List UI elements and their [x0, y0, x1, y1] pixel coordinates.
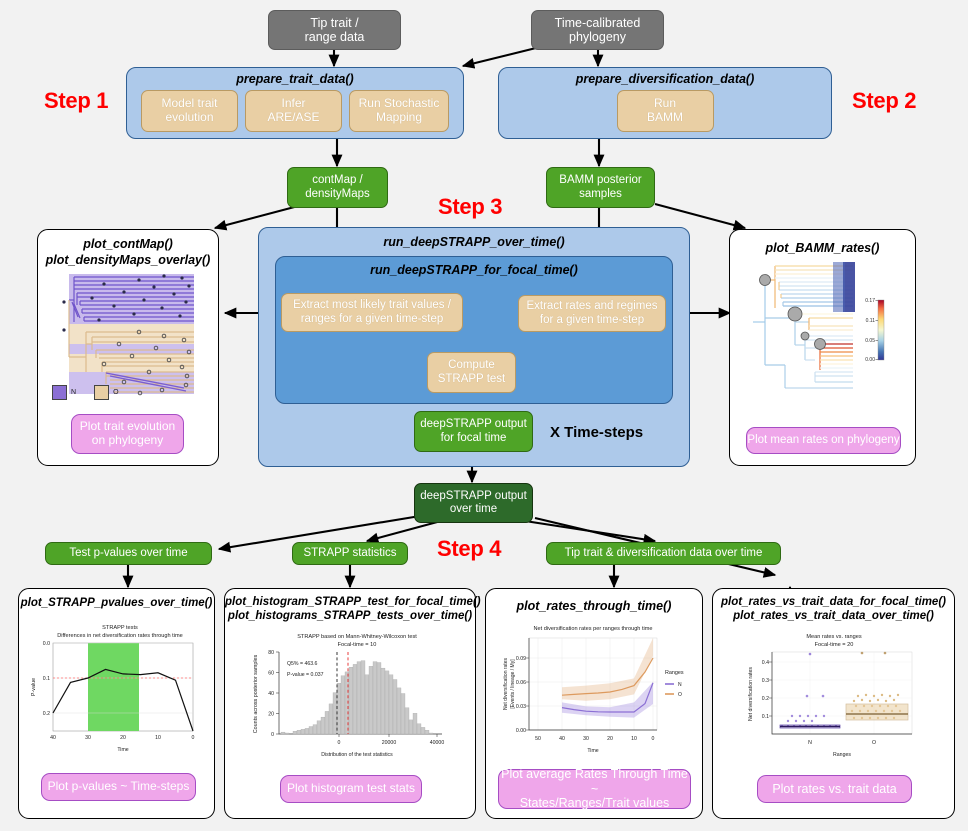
run-stochastic-mapping-node[interactable]: Run Stochastic Mapping: [349, 90, 449, 132]
node-line1: Model trait: [161, 97, 217, 111]
svg-text:Time: Time: [587, 748, 598, 754]
phylogeny-line2: phylogeny: [555, 30, 641, 44]
svg-text:0: 0: [652, 736, 655, 742]
tip-trait-line1: Tip trait /: [305, 16, 365, 30]
rates-through-time-chart: Net diversification rates per ranges thr…: [493, 616, 698, 761]
svg-text:0.11: 0.11: [866, 318, 876, 324]
timesteps-label: X Time-steps: [550, 424, 643, 441]
panel-rates-vs-trait[interactable]: plot_rates_vs_trait_data_for_focal_time(…: [712, 588, 955, 819]
step2-label: Step 2: [852, 88, 916, 114]
model-trait-evolution-node[interactable]: Model trait evolution: [141, 90, 238, 132]
svg-text:Ranges: Ranges: [665, 670, 684, 676]
branch-label: Test p-values over time: [69, 547, 187, 560]
svg-text:Net diversification rates: Net diversification rates: [748, 667, 754, 721]
output-focal-line1: deepSTRAPP output: [420, 418, 527, 431]
button-line1: Plot trait evolution: [80, 420, 175, 434]
svg-text:P-value: P-value: [31, 678, 37, 696]
svg-text:Ranges: Ranges: [833, 752, 851, 758]
plot-mean-rates-button[interactable]: Plot mean rates on phylogeny: [746, 427, 901, 454]
rates-vs-trait-chart: Mean rates vs. ranges Focal-time = 20: [722, 626, 947, 761]
output-over-time-line1: deepSTRAPP output: [420, 490, 527, 503]
branch-tip-trait-data[interactable]: Tip trait & diversification data over ti…: [546, 542, 781, 565]
node-line1: Run: [647, 97, 683, 111]
panel3-title: plot_rates_through_time(): [486, 599, 702, 613]
extract-trait-values-node[interactable]: Extract most likely trait values / range…: [281, 293, 463, 332]
tip-trait-node[interactable]: Tip trait / range data: [268, 10, 401, 50]
svg-text:0.09: 0.09: [516, 656, 526, 662]
panel4-title-line1: plot_rates_vs_trait_data_for_focal_time(…: [713, 596, 954, 608]
step1-label: Step 1: [44, 88, 108, 114]
svg-text:0.1: 0.1: [43, 676, 50, 682]
svg-text:Distribution of the test stati: Distribution of the test statistics: [321, 752, 393, 758]
svg-text:0.03: 0.03: [516, 704, 526, 710]
contmap-panel[interactable]: plot_contMap() plot_densityMaps_overlay(…: [37, 229, 219, 466]
svg-text:0.0: 0.0: [43, 641, 50, 647]
svg-text:40: 40: [50, 735, 56, 741]
step4-label: Step 4: [437, 536, 501, 562]
branch-label: STRAPP statistics: [303, 547, 396, 560]
svg-text:0.3: 0.3: [762, 678, 769, 684]
svg-text:[Events / lineage / My]: [Events / lineage / My]: [510, 659, 516, 709]
prepare-diversification-data-box[interactable]: prepare_diversification_data() Run BAMM: [498, 67, 832, 139]
branch-label: Tip trait & diversification data over ti…: [565, 547, 763, 560]
bamm-line2: samples: [559, 188, 641, 201]
plot-histogram-button[interactable]: Plot histogram test stats: [280, 775, 422, 803]
svg-text:30: 30: [583, 736, 589, 742]
node-line2: BAMM: [647, 111, 683, 125]
run-deepstrapp-for-focal-time-title: run_deepSTRAPP_for_focal_time(): [276, 263, 672, 277]
panel1-title: plot_STRAPP_pvalues_over_time(): [19, 597, 214, 609]
svg-text:0.2: 0.2: [762, 696, 769, 702]
output-focal-line2: for focal time: [420, 432, 527, 445]
compute-line2: STRAPP test: [438, 373, 506, 386]
bamm-rates-tree-plot: 0.17 0.11 0.05 0.00: [735, 260, 910, 410]
panel-strapp-pvalues[interactable]: plot_STRAPP_pvalues_over_time() STRAPP t…: [18, 588, 215, 819]
svg-text:10: 10: [631, 736, 637, 742]
bamm-line1: BAMM posterior: [559, 174, 641, 187]
svg-text:0.05: 0.05: [865, 338, 875, 344]
plot-trait-evolution-button[interactable]: Plot trait evolution on phylogeny: [71, 414, 184, 454]
output-over-time-line2: over time: [420, 503, 527, 516]
phylogeny-line1: Time-calibrated: [555, 16, 641, 30]
panel2-title-line2: plot_histograms_STRAPP_tests_over_time(): [225, 610, 475, 622]
plot-pvalues-button[interactable]: Plot p-values ~ Time-steps: [41, 773, 196, 801]
svg-text:0: 0: [192, 735, 195, 741]
extract-rates-regimes-node[interactable]: Extract rates and regimes for a given ti…: [518, 295, 666, 332]
contmap-densitymaps-node[interactable]: contMap / densityMaps: [287, 167, 388, 208]
node-line2: Mapping: [359, 111, 440, 125]
svg-text:Mean rates vs. ranges: Mean rates vs. ranges: [806, 634, 862, 640]
button-line2: States/Ranges/Trait values: [499, 796, 690, 810]
plot-rates-vs-trait-button[interactable]: Plot rates vs. trait data: [757, 775, 912, 803]
step3-label: Step 3: [438, 194, 502, 220]
svg-text:STRAPP tests: STRAPP tests: [102, 625, 138, 631]
svg-text:Counts across posterior sample: Counts across posterior samples: [253, 654, 259, 733]
bamm-rates-panel[interactable]: plot_BAMM_rates(): [729, 229, 916, 466]
svg-text:20: 20: [120, 735, 126, 741]
svg-text:O: O: [872, 740, 876, 746]
svg-text:0: 0: [338, 740, 341, 746]
branch-test-pvalues[interactable]: Test p-values over time: [45, 542, 212, 565]
compute-strapp-test-node[interactable]: Compute STRAPP test: [427, 352, 516, 393]
svg-text:Differences in net diversifica: Differences in net diversification rates…: [57, 633, 183, 639]
bamm-rates-title: plot_BAMM_rates(): [730, 241, 915, 255]
svg-text:N: N: [808, 740, 812, 746]
svg-text:O: O: [678, 692, 682, 698]
svg-text:0.2: 0.2: [43, 711, 50, 717]
plot-rates-through-time-button[interactable]: Plot average Rates Through Time ~ States…: [498, 769, 691, 809]
infer-are-ase-node[interactable]: Infer ARE/ASE: [245, 90, 342, 132]
node-line1: Run Stochastic: [359, 97, 440, 111]
svg-text:50: 50: [535, 736, 541, 742]
panel-rates-through-time[interactable]: plot_rates_through_time() Net diversific…: [485, 588, 703, 819]
prepare-diversification-title: prepare_diversification_data(): [499, 72, 831, 86]
branch-strapp-statistics[interactable]: STRAPP statistics: [292, 542, 408, 565]
svg-text:0.00: 0.00: [516, 728, 526, 734]
svg-text:10: 10: [155, 735, 161, 741]
svg-text:STRAPP based on Mann-Whitney-W: STRAPP based on Mann-Whitney-Wilcoxon te…: [297, 634, 417, 640]
contmap-title-line2: plot_densityMaps_overlay(): [38, 253, 218, 267]
svg-text:60: 60: [268, 671, 274, 677]
contmap-line2: densityMaps: [305, 188, 370, 201]
legend-label-n: N: [71, 389, 76, 396]
svg-text:0: 0: [271, 732, 274, 738]
contmap-tree-plot: [44, 272, 212, 397]
contmap-line1: contMap /: [305, 174, 370, 187]
node-line2: evolution: [161, 111, 217, 125]
svg-text:40000: 40000: [430, 740, 445, 746]
svg-text:30: 30: [85, 735, 91, 741]
svg-text:20000: 20000: [382, 740, 397, 746]
svg-text:0.06: 0.06: [516, 680, 526, 686]
compute-line1: Compute: [438, 359, 506, 372]
svg-text:Focal-time = 10: Focal-time = 10: [338, 642, 377, 648]
button-line1: Plot average Rates Through Time ~: [499, 767, 690, 796]
prepare-trait-data-title: prepare_trait_data(): [127, 72, 463, 86]
svg-text:80: 80: [268, 650, 274, 656]
extract-rates-line1: Extract rates and regimes: [526, 300, 657, 313]
svg-text:0.4: 0.4: [762, 660, 769, 666]
run-bamm-node[interactable]: Run BAMM: [617, 90, 714, 132]
button-line2: on phylogeny: [80, 434, 175, 448]
histogram-chart: STRAPP based on Mann-Whitney-Wilcoxon te…: [237, 626, 467, 761]
svg-text:Focal-time = 20: Focal-time = 20: [815, 642, 854, 648]
panel4-title-line2: plot_rates_vs_trait_data_over_time(): [713, 610, 954, 622]
svg-text:40: 40: [268, 691, 274, 697]
svg-text:0.17: 0.17: [865, 298, 875, 304]
extract-trait-line2: ranges for a given time-step: [293, 313, 451, 326]
svg-text:Net diversification rates per: Net diversification rates per ranges thr…: [533, 626, 652, 632]
svg-text:0.00: 0.00: [865, 357, 875, 363]
contmap-title-line1: plot_contMap(): [38, 237, 218, 251]
tip-trait-line2: range data: [305, 30, 365, 44]
svg-text:20: 20: [268, 712, 274, 718]
prepare-trait-data-box[interactable]: prepare_trait_data() Model trait evoluti…: [126, 67, 464, 139]
deepstrapp-output-focal-node[interactable]: deepSTRAPP output for focal time: [414, 411, 533, 452]
legend-label-o: O: [113, 389, 118, 396]
panel-strapp-histogram[interactable]: plot_histogram_STRAPP_test_for_focal_tim…: [224, 588, 476, 819]
node-line2: ARE/ASE: [267, 111, 319, 125]
svg-text:P-value = 0.037: P-value = 0.037: [287, 672, 324, 678]
svg-text:Q5% = 463.6: Q5% = 463.6: [287, 661, 318, 667]
run-deepstrapp-over-time-title: run_deepSTRAPP_over_time(): [259, 235, 689, 249]
diagram-root: Tip trait / range data Time-calibrated p…: [0, 0, 968, 831]
legend-swatch-n: [52, 385, 67, 400]
contmap-legend: N O: [52, 385, 119, 400]
svg-text:0.1: 0.1: [762, 714, 769, 720]
extract-trait-line1: Extract most likely trait values /: [293, 299, 451, 312]
panel2-title-line1: plot_histogram_STRAPP_test_for_focal_tim…: [225, 596, 475, 608]
bamm-posterior-samples-node[interactable]: BAMM posterior samples: [546, 167, 655, 208]
svg-text:N: N: [678, 682, 682, 688]
svg-text:Time: Time: [117, 747, 128, 753]
legend-swatch-o: [94, 385, 109, 400]
svg-text:20: 20: [607, 736, 613, 742]
phylogeny-node[interactable]: Time-calibrated phylogeny: [531, 10, 664, 50]
extract-rates-line2: for a given time-step: [526, 314, 657, 327]
pvalues-chart: STRAPP tests Differences in net diversif…: [25, 615, 210, 760]
node-line1: Infer: [267, 97, 319, 111]
svg-text:Net diversification rates: Net diversification rates: [503, 658, 509, 710]
svg-text:40: 40: [559, 736, 565, 742]
deepstrapp-output-over-time-node[interactable]: deepSTRAPP output over time: [414, 483, 533, 523]
